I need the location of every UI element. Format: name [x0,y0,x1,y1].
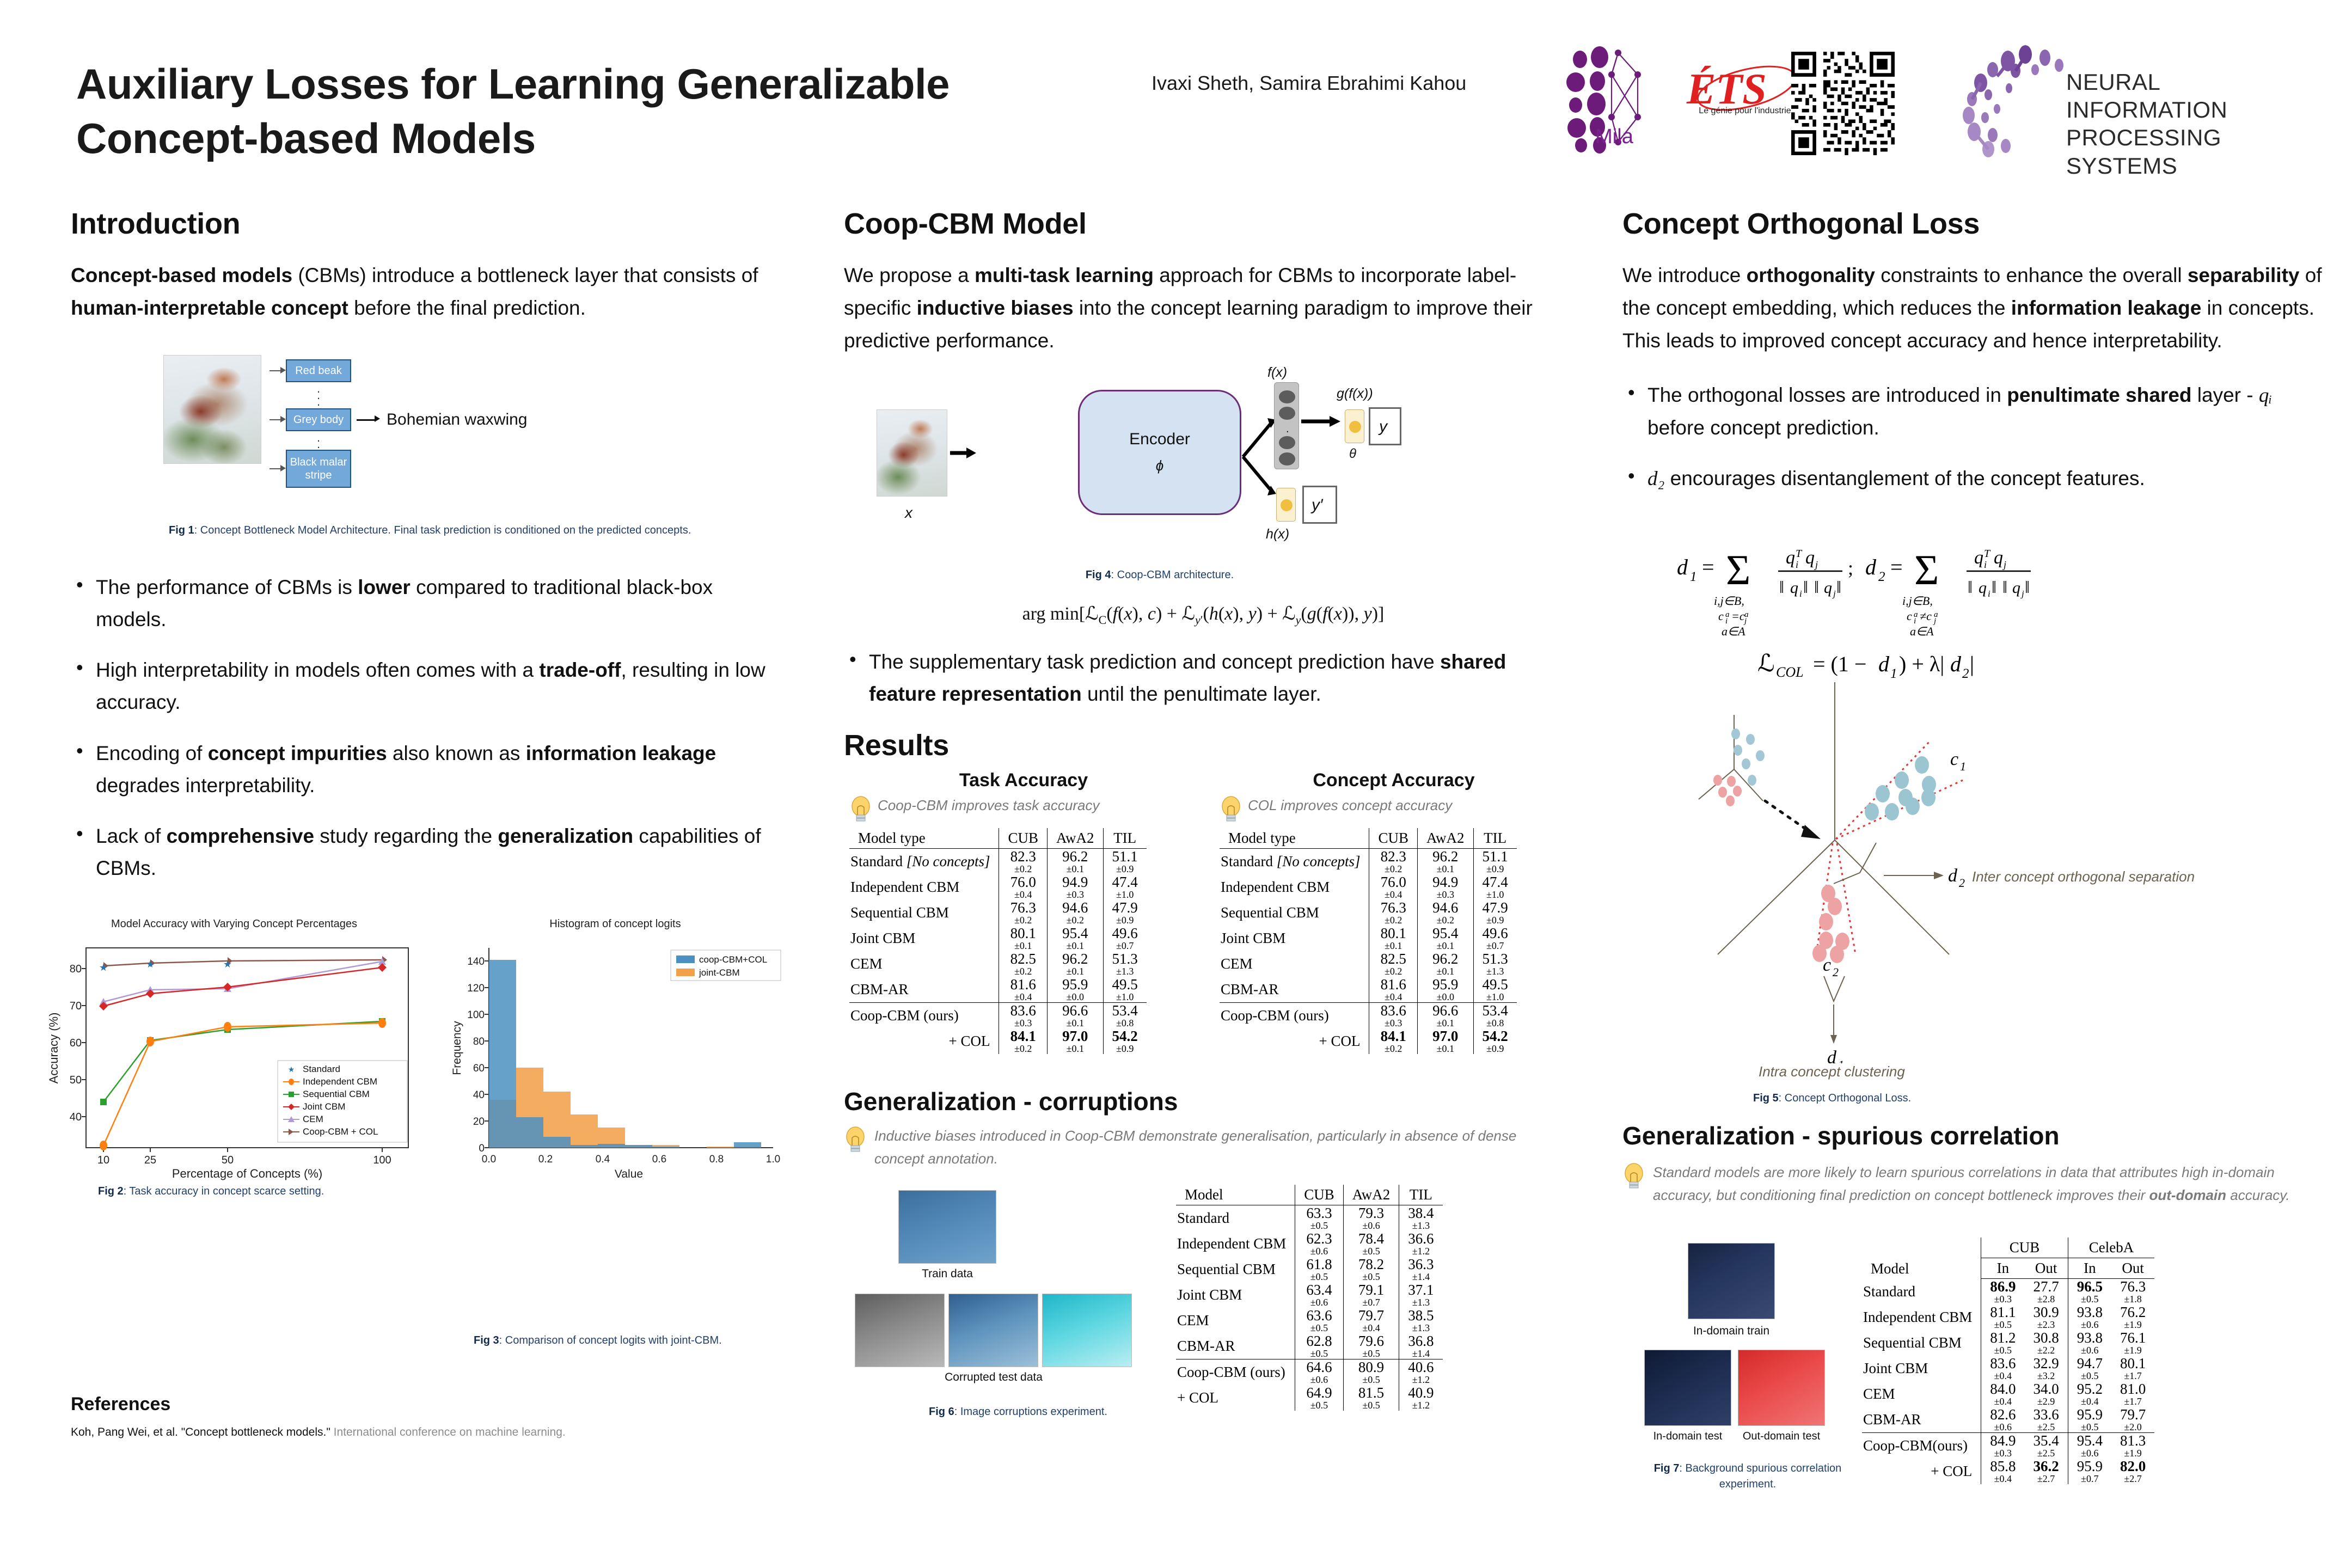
indomain-train-label: In-domain train [1677,1325,1786,1338]
col-header: Model [1862,1238,1981,1279]
task-accuracy-block: Task Accuracy Coop-CBM improves task acc… [849,770,1198,1054]
concept-accuracy-table: Model type CUB AwA2 TIL Standard [No con… [1220,828,1517,1054]
svg-text:0.0: 0.0 [482,1154,496,1165]
lightbulb-icon [849,795,872,825]
d2-text: Inter concept orthogonal separation [1972,868,2195,885]
hx-node [1276,488,1296,522]
col-header: TIL [1103,828,1147,849]
svg-text:T: T [1796,548,1803,560]
figure-2-caption: Fig 2: Task accuracy in concept scarce s… [98,1184,779,1199]
neuron [1279,407,1295,420]
svg-text:coop-CBM+COL: coop-CBM+COL [699,954,767,965]
svg-text:‖: ‖ [2002,577,2007,597]
fig4-arrow-to-theta [1301,415,1345,428]
table-row: CBM-AR 81.6±0.4 95.9±0.0 49.5±1.0 [1220,977,1517,1003]
reference-entry: Koh, Pang Wei, et al. "Concept bottlenec… [71,1424,670,1442]
svg-text:i: i [1984,559,1987,570]
svg-text:140: 140 [467,956,485,967]
concept-accuracy-hint: COL improves concept accuracy [1248,794,1568,817]
arrow-line-1 [269,370,281,371]
table-row: + COL 84.1±0.2 97.0±0.1 54.2±0.9 [1220,1028,1517,1054]
theta-dot [1349,421,1361,433]
svg-text:50: 50 [70,1074,82,1086]
svg-text:120: 120 [467,983,485,994]
ets-logo: ÉTS [1682,54,1808,136]
svg-text:j: j [2020,589,2024,599]
svg-text:=: = [1890,555,1903,579]
table-row: CBM-AR 82.6±0.6 33.6±2.5 95.9±0.5 79.7±2… [1862,1407,2154,1433]
svg-text:2: 2 [1962,666,1969,681]
figure-4-caption: Fig 4: Coop-CBM architecture. [915,567,1405,583]
svg-text:d: d [1878,652,1890,676]
col-header: Model type [849,828,999,849]
list-item: High interpretability in models often co… [71,654,779,718]
results-tables: Task Accuracy Coop-CBM improves task acc… [844,770,1563,1075]
svg-text:100: 100 [373,1154,391,1166]
col-equations: d 1 = Σ i,j∈B, cai =caj a∈A q T i q j [1622,513,2325,693]
chart-2-title: Model Accuracy with Varying Concept Perc… [44,918,425,930]
svg-text:25: 25 [144,1154,156,1166]
list-item: Lack of comprehensive study regarding th… [71,820,779,884]
list-item: The orthogonal losses are introduced in … [1622,379,2325,444]
task-accuracy-table: Model type CUB AwA2 TIL Standard [No con… [849,828,1147,1054]
svg-text:|: | [1970,652,1974,676]
table-row: CEM 82.5±0.2 96.2±0.1 51.3±1.3 [849,951,1147,977]
yprime-label: y′ [1312,496,1323,514]
coop-bullet-list: The supplementary task prediction and co… [844,646,1563,710]
figure-5-svg: c 1 c 2 [1622,682,2303,1063]
svg-text:70: 70 [70,1000,82,1012]
section-heading-introduction: Introduction [71,207,779,241]
references-block: References Koh, Pang Wei, et al. "Concep… [71,1394,670,1442]
table-row: Independent CBM 76.0±0.4 94.9±0.3 47.4±1… [849,874,1147,900]
figure-6-caption: Fig 6: Image corruptions experiment. [855,1404,1181,1420]
table-row: Standard 63.3±0.5 79.3±0.6 38.4±1.3 [1176,1205,1443,1231]
table-row: Standard [No concepts] 82.3±0.2 96.2±0.1… [1220,848,1517,874]
list-item: The performance of CBMs is lower compare… [71,571,779,635]
svg-text:j: j [2002,559,2006,570]
figures-2-and-3: Model Accuracy with Varying Concept Perc… [71,906,779,1178]
svg-text:) + λ|: ) + λ| [1899,652,1944,676]
svg-text:i,j∈B,: i,j∈B, [1714,594,1744,608]
svg-text:★: ★ [99,962,108,973]
arrow-line-2 [269,419,281,420]
svg-text:T: T [1984,548,1991,560]
corruptions-hint: Inductive biases introduced in Coop-CBM … [874,1125,1517,1170]
arrow-head-3 [280,465,286,471]
col-header: CUB [1981,1238,2068,1258]
outdomain-test-label: Out-domain test [1738,1430,1825,1443]
svg-text:i: i [1799,589,1802,599]
intro-bullet-list: The performance of CBMs is lower compare… [71,571,779,885]
bird-photo [163,355,261,464]
svg-text:10: 10 [97,1154,109,1166]
svg-text:d: d [1827,1048,1837,1063]
coop-objective: arg min[ℒC(f(x), c) + ℒy′(h(x), y) + ℒy(… [844,603,1563,627]
dots-1: ... [317,385,320,405]
spurious-content: In-domain train In-domain test Out-domai… [1622,1243,2325,1526]
table-row: Joint CBM 63.4±0.6 79.1±0.7 37.1±1.3 [1176,1282,1443,1308]
svg-text:1: 1 [1890,666,1897,681]
coop-paragraph: We propose a multi-task learning approac… [844,259,1563,357]
fig4-bird-photo [877,409,947,497]
neuron [1279,436,1295,449]
svg-text:d: d [1950,652,1962,676]
col-header: CUB [1295,1185,1344,1205]
chart-2-ylabel: Accuracy (%) [47,1013,60,1084]
svg-text:1: 1 [1690,569,1697,584]
intro-paragraph: Concept-based models (CBMs) introduce a … [71,259,779,324]
table-row: CBM-AR 62.8±0.5 79.6±0.5 36.8±1.4 [1176,1333,1443,1359]
arrow-head-1 [280,367,286,373]
train-data-label: Train data [898,1267,996,1281]
poster-header: Auxiliary Losses for Learning Generaliza… [0,0,2352,196]
svg-text:d: d [1677,555,1688,579]
col-header: Model type [1220,828,1369,849]
svg-text:i: i [1796,559,1798,570]
svg-text:★: ★ [146,959,155,970]
intro-bold-2: human-interpretable concept [71,297,348,319]
svg-text:=: = [1702,555,1714,579]
svg-text:40: 40 [473,1089,485,1101]
task-accuracy-hint: Coop-CBM improves task accuracy [878,794,1198,817]
table-row: Independent CBM 81.1±0.5 30.9±2.3 93.8±0… [1862,1304,2154,1330]
svg-text:c: c [1950,749,1958,769]
figure-3-caption: Fig 3: Comparison of concept logits with… [474,1333,722,1349]
svg-text:;: ; [1848,557,1853,579]
svg-text:2: 2 [1833,965,1839,979]
indomain-test-image [1644,1350,1731,1426]
table-row: Sequential CBM 76.3±0.2 94.6±0.2 47.9±0.… [1220,900,1517,926]
theta-label: θ [1349,446,1356,462]
intro-bold-1: Concept-based models [71,264,292,286]
chart-3-xlabel: Value [615,1168,643,1180]
figure-2-chart: Model Accuracy with Varying Concept Perc… [44,918,425,1179]
fx-vector: . [1274,382,1299,469]
svg-text:q: q [1824,579,1832,597]
svg-text:‖: ‖ [1968,577,1973,597]
table-row: Standard 86.9±0.3 27.7±2.8 96.5±0.5 76.3… [1862,1279,2154,1305]
arrow-line-3 [269,468,281,469]
svg-text:Independent CBM: Independent CBM [303,1076,377,1087]
svg-text:= (1 −: = (1 − [1813,652,1866,676]
col-header: CelebA [2068,1238,2154,1258]
svg-text:d: d [1948,866,1958,886]
svg-text:0.8: 0.8 [709,1154,724,1165]
page-title: Auxiliary Losses for Learning Generaliza… [76,57,1111,166]
svg-text:q: q [1979,579,1987,597]
svg-text:q: q [1790,579,1798,597]
svg-text:q: q [1786,548,1795,568]
table-row: CEM 84.0±0.4 34.0±2.9 95.2±0.4 81.0±1.7 [1862,1381,2154,1407]
table-row: + COL 85.8±0.4 36.2±2.7 95.9±0.7 82.0±2.… [1862,1459,2154,1484]
sub-header: In [2068,1258,2111,1279]
svg-text:Sequential CBM: Sequential CBM [303,1089,370,1099]
figure-7-caption: Fig 7: Background spurious correlation e… [1633,1461,1862,1492]
hx-label: h(x) [1266,526,1289,542]
col-bullet-list: The orthogonal losses are introduced in … [1622,379,2325,495]
svg-text:Joint CBM: Joint CBM [303,1101,345,1112]
svg-text:‖: ‖ [1992,577,1996,597]
svg-text:j: j [1832,589,1836,599]
authors: Ivaxi Sheth, Samira Ebrahimi Kahou [1151,71,1533,96]
prediction-label: Bohemian waxwing [387,411,527,429]
svg-text:★: ★ [288,1065,295,1074]
svg-text:i: i [1988,589,1990,599]
svg-text:0: 0 [479,1143,485,1154]
qr-code-icon[interactable] [1791,52,1895,155]
lightbulb-icon [844,1126,867,1155]
svg-text:q: q [1974,548,1983,568]
svg-text:CEM: CEM [303,1114,323,1124]
svg-text:Σ: Σ [1726,546,1750,593]
figure-5: c 1 c 2 [1622,682,2325,1063]
svg-text:40: 40 [70,1111,82,1123]
concept-box-black-malar-stripe: Black malar stripe [286,450,351,488]
task-accuracy-title: Task Accuracy [849,770,1198,791]
svg-text:0.6: 0.6 [652,1154,666,1165]
svg-text:j: j [1814,559,1818,570]
arrow-head-2 [280,416,286,422]
col-header: CUB [1369,828,1418,849]
neuron [1279,452,1295,465]
figure-4: x Encoder ϕ f(x) [844,367,1563,563]
concept-accuracy-title: Concept Accuracy [1220,770,1568,791]
svg-text:60: 60 [70,1037,82,1049]
corrupted-image-1 [855,1294,945,1367]
col-paragraph: We introduce orthogonality constraints t… [1622,259,2325,357]
mila-label: Mila [1568,125,1661,149]
equation-d1-d2: d 1 = Σ i,j∈B, cai =caj a∈A q T i q j [1622,513,2303,693]
svg-text:a∈A: a∈A [1910,624,1934,638]
col-header: AwA2 [1418,828,1474,849]
yprime-flag: y′ [1302,486,1337,524]
intro-text-1: (CBMs) introduce a bottleneck layer that… [292,264,758,286]
table-row: CBM-AR 81.6±0.4 95.9±0.0 49.5±1.0 [849,977,1147,1003]
svg-text:q: q [1994,548,2003,568]
svg-text:‖: ‖ [1779,577,1784,597]
col-header: AwA2 [1343,1185,1399,1205]
col-header: AwA2 [1048,828,1104,849]
concept-box-red-beak: Red beak [286,359,351,382]
svg-text:‖: ‖ [1814,577,1819,597]
svg-text:80: 80 [473,1036,485,1048]
column-orthogonal-loss: Concept Orthogonal Loss We introduce ort… [1622,207,2325,1526]
svg-text:‖: ‖ [2025,577,2030,597]
table-row: Coop-CBM (ours) 64.6±0.6 80.9±0.5 40.6±1… [1176,1359,1443,1385]
section-heading-coop-cbm: Coop-CBM Model [844,207,1563,241]
svg-text:‖: ‖ [1803,577,1808,597]
concept-accuracy-block: Concept Accuracy COL improves concept ac… [1220,770,1568,1054]
svg-text:★: ★ [223,959,232,970]
intro-text-2: before the final prediction. [348,297,586,319]
col-header: CUB [999,828,1048,849]
svg-text:c: c [1823,955,1831,975]
svg-text:80: 80 [70,963,82,975]
figure-1: Red beak ... Grey body ... Black malar s… [71,350,779,518]
svg-text:d: d [1865,555,1877,579]
svg-text:Standard: Standard [303,1064,340,1074]
table-row: Sequential CBM 76.3±0.2 94.6±0.2 47.9±0.… [849,900,1147,926]
svg-text:100: 100 [467,1009,485,1021]
col-header: TIL [1473,828,1517,849]
corrupted-test-data-label: Corrupted test data [855,1371,1132,1384]
fig4-arrow-input [950,445,1081,461]
table-row: Coop-CBM (ours) 83.6±0.3 96.6±0.1 53.4±0… [849,1002,1147,1028]
column-introduction: Introduction Concept-based models (CBMs)… [71,207,779,1199]
svg-text:≠c: ≠c [1920,609,1932,623]
chart-2-xlabel: Percentage of Concepts (%) [172,1167,322,1180]
corrupted-image-2 [948,1294,1038,1367]
figure-5-caption: Fig 5: Concept Orthogonal Loss. [1753,1091,1911,1106]
svg-text:=c: =c [1731,609,1745,623]
poster-root: Auxiliary Losses for Learning Generaliza… [0,0,2352,1568]
encoder-label: Encoder [1129,430,1190,449]
table-row: Coop-CBM (ours) 83.6±0.3 96.6±0.1 53.4±0… [1220,1002,1517,1028]
svg-text:ℒ: ℒ [1757,650,1775,677]
svg-text:0.4: 0.4 [596,1154,610,1165]
svg-text:1: 1 [1838,1058,1844,1063]
arrow-line-4 [357,419,376,421]
sub-header: Out [2111,1258,2154,1279]
concept-box-grey-body: Grey body [286,408,351,431]
fig4-input-label: x [905,504,912,522]
section-heading-spurious: Generalization - spurious correlation [1622,1121,2325,1150]
column-coop-cbm: Coop-CBM Model We propose a multi-task l… [844,207,1563,1490]
svg-text:i,j∈B,: i,j∈B, [1902,594,1933,608]
svg-text:1: 1 [1960,759,1966,773]
fx-label: f(x) [1267,365,1287,381]
figure-3-chart: Histogram of concept logits 02040 608010… [446,918,784,1179]
svg-text:‖: ‖ [1836,577,1841,597]
list-item: Encoding of concept impurities also know… [71,737,779,801]
hx-dot [1281,499,1293,511]
svg-text:1.0: 1.0 [766,1154,780,1165]
svg-text:Σ: Σ [1914,546,1939,593]
table-row: Coop-CBM(ours) 84.9±0.3 35.4±2.5 95.4±0.… [1862,1433,2154,1459]
svg-text:50: 50 [222,1154,234,1166]
svg-text:2: 2 [1878,569,1885,584]
y-label: y [1379,418,1387,436]
lightbulb-icon [1220,795,1242,825]
svg-text:q: q [2012,579,2020,597]
svg-text:Coop-CBM + COL: Coop-CBM + COL [303,1126,378,1137]
d1-text: Intra concept clustering [1759,1063,1905,1080]
table-row: Sequential CBM 81.2±0.5 30.8±2.2 93.8±0.… [1862,1330,2154,1356]
y-flag: y [1369,407,1401,445]
svg-text:joint-CBM: joint-CBM [699,967,740,978]
gfx-label: g(f(x)) [1337,386,1373,402]
encoder-param: ϕ [1156,457,1163,474]
chart-3-ylabel: Frequency [451,1021,463,1075]
svg-text:c: c [1907,609,1912,623]
table-row: Joint CBM 80.1±0.1 95.4±0.1 49.6±0.7 [1220,926,1517,951]
sub-header: Out [2024,1258,2068,1279]
chart-2-svg: 4050 6070 80 1025 50100 [44,933,425,1180]
table-row: + COL 64.9±0.5 81.5±0.5 40.9±1.2 [1176,1385,1443,1411]
table-row: Independent CBM 76.0±0.4 94.9±0.3 47.4±1… [1220,874,1517,900]
encoder-block: Encoder ϕ [1078,390,1241,515]
spurious-table: Model CUB CelebA In Out In Out Standard … [1862,1238,2154,1484]
section-heading-results: Results [844,728,1563,762]
corruptions-content: Train data Corrupted test data Fig 6: Im… [844,1185,1563,1490]
svg-text:c: c [1718,609,1724,623]
indomain-test-label: In-domain test [1644,1430,1731,1443]
list-item: The supplementary task prediction and co… [844,646,1563,710]
svg-text:a∈A: a∈A [1722,624,1745,638]
table-row: Sequential CBM 61.8±0.5 78.2±0.5 36.3±1.… [1176,1257,1443,1282]
chart-3-title: Histogram of concept logits [446,918,784,930]
lightbulb-icon [1622,1162,1645,1192]
figure-1-caption-label: Fig 1 [169,524,194,536]
section-heading-corruptions: Generalization - corruptions [844,1087,1563,1116]
section-heading-col: Concept Orthogonal Loss [1622,207,2325,241]
table-row: Standard [No concepts] 82.3±0.2 96.2±0.1… [849,848,1147,874]
sub-header: In [1981,1258,2025,1279]
train-image [898,1190,996,1264]
outdomain-test-image [1738,1350,1825,1426]
svg-text:60: 60 [473,1063,485,1074]
theta-node [1345,409,1364,443]
neuron-dots: . [1286,423,1289,436]
neurips-label: NEURAL INFORMATION PROCESSING SYSTEMS [2066,68,2322,180]
neuron [1279,390,1295,403]
arrow-head-4 [375,415,380,422]
table-row: Joint CBM 83.6±0.4 32.9±3.2 94.7±0.5 80.… [1862,1356,2154,1381]
table-row: CEM 63.6±0.5 79.7±0.4 38.5±1.3 [1176,1308,1443,1333]
figure-1-caption: Fig 1: Concept Bottleneck Model Architec… [169,523,713,538]
list-item: d₂ encourages disentanglement of the con… [1622,462,2325,495]
svg-text:20: 20 [473,1116,485,1128]
table-row: CEM 82.5±0.2 96.2±0.1 51.3±1.3 [1220,951,1517,977]
svg-text:q: q [1805,548,1815,568]
references-heading: References [71,1394,670,1415]
table-row: + COL 84.1±0.2 97.0±0.1 54.2±0.9 [849,1028,1147,1054]
corruptions-table: Model CUB AwA2 TIL Standard 63.3±0.5 79.… [1176,1185,1443,1411]
indomain-train-image [1688,1243,1775,1319]
chart-3-svg: 02040 6080100 120140 [446,933,784,1180]
corrupted-image-3 [1042,1294,1132,1367]
svg-text:0.2: 0.2 [538,1154,553,1165]
col-header: Model [1176,1185,1295,1205]
svg-text:2: 2 [1959,876,1965,890]
svg-text:COL: COL [1776,664,1804,680]
spurious-hint: Standard models are more likely to learn… [1653,1161,2306,1206]
table-row: Joint CBM 80.1±0.1 95.4±0.1 49.6±0.7 [849,926,1147,951]
table-row: Independent CBM 62.3±0.6 78.4±0.5 36.6±1… [1176,1231,1443,1257]
ets-tagline: Le génie pour l'industrie [1682,106,1808,116]
figure-1-caption-text: : Concept Bottleneck Model Architecture.… [194,524,691,536]
col-header: TIL [1399,1185,1443,1205]
